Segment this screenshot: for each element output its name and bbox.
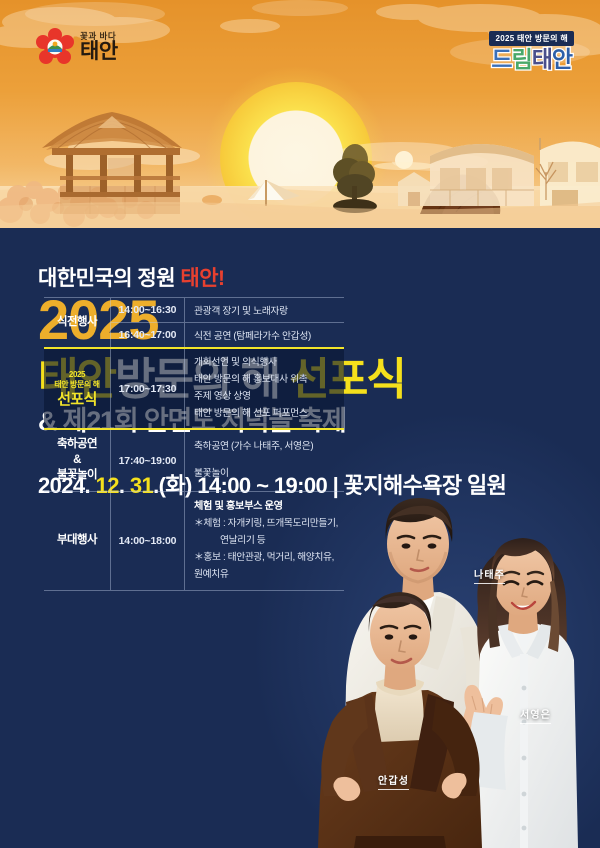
desc-line: 축하공연 (가수 나태주, 서영은)	[194, 439, 340, 456]
desc-cell: 관광객 장기 및 노래자랑	[185, 298, 344, 322]
row-label-ceremony: 선포식	[57, 391, 97, 408]
event-schedule-table: 식전행사 14:00~16:30 16:40~17:00 관광객 장기 및 노래…	[44, 297, 344, 591]
time-cell: 14:00~16:30	[111, 298, 184, 322]
row-desc-celebration: 축하공연 (가수 나태주, 서영은) 불꽃놀이	[184, 430, 344, 491]
event-poster: 꽃과 바다 태안 2025 태안 방문의 해 드림태안 대한민국의 정원 태안!…	[0, 0, 600, 848]
schedule-row-celebration: 축하공연 & 불꽃놀이 17:40~19:00 축하공연 (가수 나태주, 서영…	[44, 430, 344, 491]
row-label-pre-event: 식전행사	[44, 298, 110, 347]
logo-tagline: 꽃과 바다	[80, 32, 118, 41]
row-desc-declaration: 개회선언 및 의식행사 태안 방문의 해 홍보대사 위촉 주제 영상 상영 태안…	[184, 349, 344, 428]
desc-line: 불꽃놀이	[194, 466, 340, 483]
performers-photo-group	[316, 496, 600, 848]
dream-taean-tagline: 2025 태안 방문의 해	[489, 31, 574, 46]
logo-char-2: 림	[512, 46, 532, 72]
performer-nametag-an-gap-seong: 안갑성	[378, 772, 409, 790]
desc-cell: 식전 공연 (탐페라가수 안갑성)	[185, 322, 344, 347]
dream-taean-logo: 2025 태안 방문의 해 드림태안	[489, 28, 574, 71]
time-cell: 16:40~17:00	[111, 322, 184, 347]
taean-city-logo: 꽃과 바다 태안	[36, 28, 118, 66]
row-label-text: 식전행사	[57, 315, 97, 331]
row-label-text: &	[73, 453, 81, 469]
row-label-visit-year: 태안 방문의 해	[54, 380, 99, 390]
desc-line: 태안 방문의 해 선포 퍼포먼스	[194, 406, 340, 423]
desc-line: 개회선언 및 의식행사	[194, 355, 340, 372]
schedule-row-pre-event: 식전행사 14:00~16:30 16:40~17:00 관광객 장기 및 노래…	[44, 297, 344, 347]
performer-nametag-seo-young-eun: 서영은	[520, 706, 551, 724]
schedule-row-declaration-ceremony: 2025 태안 방문의 해 선포식 17:00~17:30 개회선언 및 의식행…	[44, 347, 344, 430]
row-label-text: 축하공연	[57, 437, 97, 453]
logo-name: 태안	[80, 41, 118, 62]
dream-taean-name: 드림태안	[489, 48, 574, 71]
row-descs-pre-event: 관광객 장기 및 노래자랑 식전 공연 (탐페라가수 안갑성)	[184, 298, 344, 347]
logo-char-4: 안	[552, 46, 572, 72]
desc-line: 주제 영상 상영	[194, 389, 340, 406]
desc-line: 태안 방문의 해 홍보대사 위촉	[194, 372, 340, 389]
row-label-year: 2025	[69, 370, 85, 380]
row-time-side-events: 14:00~18:00	[110, 492, 184, 590]
row-time-celebration: 17:40~19:00	[110, 430, 184, 491]
kicker-accent-text: 태안!	[180, 267, 224, 290]
kicker-white-text: 대한민국의 정원	[38, 267, 175, 290]
flower-logo-icon	[36, 28, 74, 66]
row-label-celebration: 축하공연 & 불꽃놀이	[44, 430, 110, 491]
logo-char-1: 드	[491, 46, 511, 72]
row-label-text: 부대행사	[57, 533, 97, 549]
logo-char-3: 태	[532, 46, 552, 72]
row-label-text: 불꽃놀이	[57, 468, 97, 484]
row-time-declaration: 17:00~17:30	[110, 349, 184, 428]
row-label-side-events: 부대행사	[44, 492, 110, 590]
row-label-declaration: 2025 태안 방문의 해 선포식	[44, 349, 110, 428]
row-times-pre-event: 14:00~16:30 16:40~17:00	[110, 298, 184, 347]
performer-nametag-na-tae-joo: 나태주	[474, 566, 505, 584]
schedule-row-side-events: 부대행사 14:00~18:00 체험 및 홍보부스 운영 ＊체험 : 자개키링…	[44, 491, 344, 591]
